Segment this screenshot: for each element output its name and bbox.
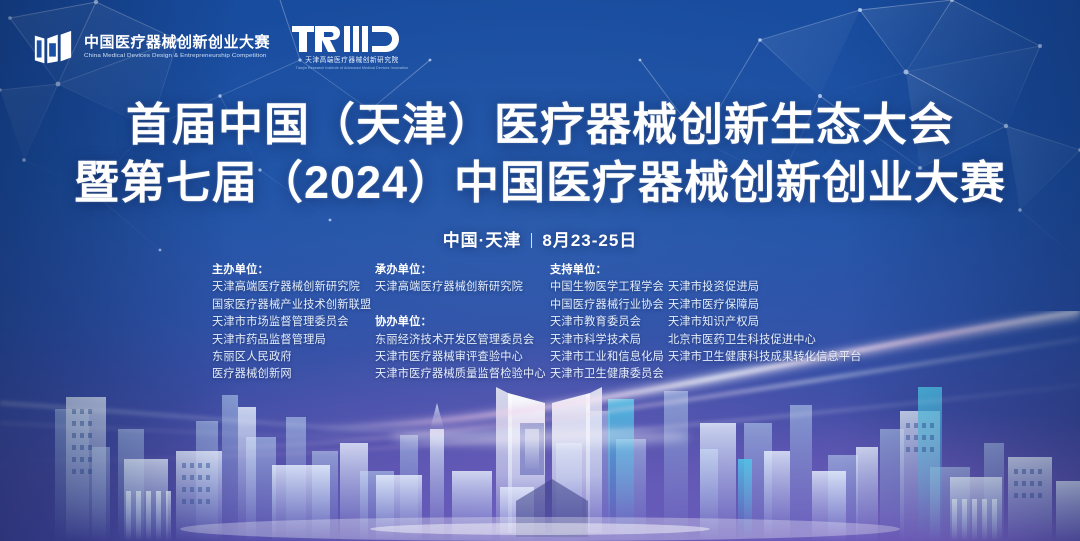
triid-logo-en: Tianjin Research Institute of Advanced M… (296, 67, 408, 71)
list-item: 天津高端医疗器械创新研究院 (212, 279, 375, 296)
sponsor-column: 主办单位： 天津高端医疗器械创新研究院 国家医疗器械产业技术创新联盟 天津市市场… (212, 262, 375, 384)
list-item: 医疗器械创新网 (212, 366, 375, 383)
competition-logo-icon (32, 27, 74, 69)
list-item: 天津市医疗器械审评查验中心 (375, 349, 550, 366)
list-item: 天津市医疗器械质量监督检验中心 (375, 366, 550, 383)
event-location: 中国·天津 (443, 231, 522, 250)
list-item: 天津市卫生健康科技成果转化信息平台 (668, 349, 868, 366)
event-meta: 中国·天津8月23-25日 (0, 226, 1080, 251)
triid-logo-cn: 天津高端医疗器械创新研究院 (305, 57, 399, 64)
list-item: 天津市教育委员会 (550, 314, 668, 331)
cmdc-logo-cn: 中国医疗器械创新创业大赛 (84, 35, 270, 52)
cmdc-logo: 中国医疗器械创新创业大赛 China Medical Devices Desig… (32, 27, 270, 69)
triid-logo: 天津高端医疗器械创新研究院 Tianjin Research Institute… (292, 24, 412, 71)
meta-divider (531, 233, 532, 248)
list-item: 北京市医药卫生科技促进中心 (668, 332, 868, 349)
list-item: 天津高端医疗器械创新研究院 (375, 279, 550, 296)
list-item: 东丽区人民政府 (212, 349, 375, 366)
sponsor-heading: 主办单位： (212, 262, 375, 279)
logo-bar: 中国医疗器械创新创业大赛 China Medical Devices Desig… (32, 24, 412, 71)
list-item: 天津市药品监督管理局 (212, 332, 375, 349)
list-item: 国家医疗器械产业技术创新联盟 (212, 297, 375, 314)
list-item: 天津市工业和信息化局 (550, 349, 668, 366)
triid-wordmark-icon (292, 24, 412, 54)
list-item: 天津市科学技术局 (550, 332, 668, 349)
list-item: 天津市知识产权局 (668, 314, 868, 331)
host-column: 承办单位： 天津高端医疗器械创新研究院 协办单位： 东丽经济技术开发区管理委员会… (375, 262, 550, 384)
list-item: 天津市市场监督管理委员会 (212, 314, 375, 331)
host-heading: 承办单位： (375, 262, 550, 279)
list-item: 东丽经济技术开发区管理委员会 (375, 332, 550, 349)
cmdc-logo-en: China Medical Devices Design & Entrepren… (84, 54, 270, 60)
supporter-column-b: 天津市投资促进局 天津市医疗保障局 天津市知识产权局 北京市医药卫生科技促进中心… (668, 262, 868, 384)
supporter-column: 支持单位： 中国生物医学工程学会 中国医疗器械行业协会 天津市教育委员会 天津市… (550, 262, 868, 384)
list-item: 天津市医疗保障局 (668, 297, 868, 314)
supporter-column-a: 支持单位： 中国生物医学工程学会 中国医疗器械行业协会 天津市教育委员会 天津市… (550, 262, 668, 384)
list-item: 中国医疗器械行业协会 (550, 297, 668, 314)
list-item: 天津市投资促进局 (668, 279, 868, 296)
column-spacer (375, 297, 550, 314)
event-date: 8月23-25日 (542, 231, 637, 250)
coorganizer-heading: 协办单位： (375, 314, 550, 331)
event-title-line-2: 暨第七届（2024）中国医疗器械创新创业大赛 (0, 154, 1080, 212)
supporter-heading: 支持单位： (550, 262, 668, 279)
conference-banner: 中国医疗器械创新创业大赛 China Medical Devices Desig… (0, 0, 1080, 541)
list-item: 中国生物医学工程学会 (550, 279, 668, 296)
column-spacer (668, 262, 868, 279)
organizer-columns: 主办单位： 天津高端医疗器械创新研究院 国家医疗器械产业技术创新联盟 天津市市场… (0, 262, 1080, 384)
event-title: 首届中国（天津）医疗器械创新生态大会 暨第七届（2024）中国医疗器械创新创业大… (0, 96, 1080, 212)
event-title-line-1: 首届中国（天津）医疗器械创新生态大会 (0, 96, 1080, 154)
list-item: 天津市卫生健康委员会 (550, 366, 668, 383)
